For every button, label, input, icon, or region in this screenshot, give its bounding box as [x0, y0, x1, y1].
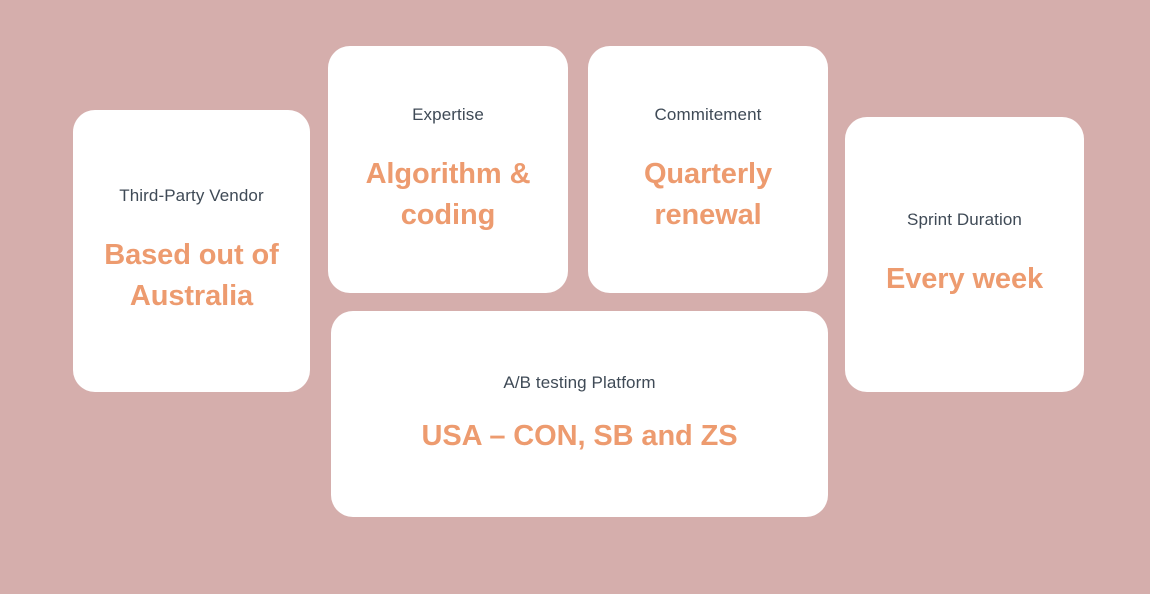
card-sprint-duration[interactable]: Sprint Duration Every week — [845, 117, 1084, 392]
card-value-third-party-vendor: Based out of Australia — [92, 235, 292, 317]
card-third-party-vendor[interactable]: Third-Party Vendor Based out of Australi… — [73, 110, 310, 392]
card-ab-testing-platform[interactable]: A/B testing Platform USA – CON, SB and Z… — [331, 311, 828, 517]
card-label-ab-testing-platform: A/B testing Platform — [503, 372, 655, 394]
card-label-sprint-duration: Sprint Duration — [907, 209, 1022, 231]
card-value-expertise: Algorithm & coding — [348, 154, 548, 236]
card-label-third-party-vendor: Third-Party Vendor — [119, 185, 263, 207]
card-commitment[interactable]: Commitement Quarterly renewal — [588, 46, 828, 293]
card-value-ab-testing-platform: USA – CON, SB and ZS — [422, 416, 738, 457]
card-expertise[interactable]: Expertise Algorithm & coding — [328, 46, 568, 293]
card-label-commitment: Commitement — [655, 104, 762, 126]
card-value-commitment: Quarterly renewal — [608, 154, 808, 236]
info-card-board: Third-Party Vendor Based out of Australi… — [0, 0, 1150, 594]
card-value-sprint-duration: Every week — [886, 259, 1043, 300]
card-label-expertise: Expertise — [412, 104, 484, 126]
